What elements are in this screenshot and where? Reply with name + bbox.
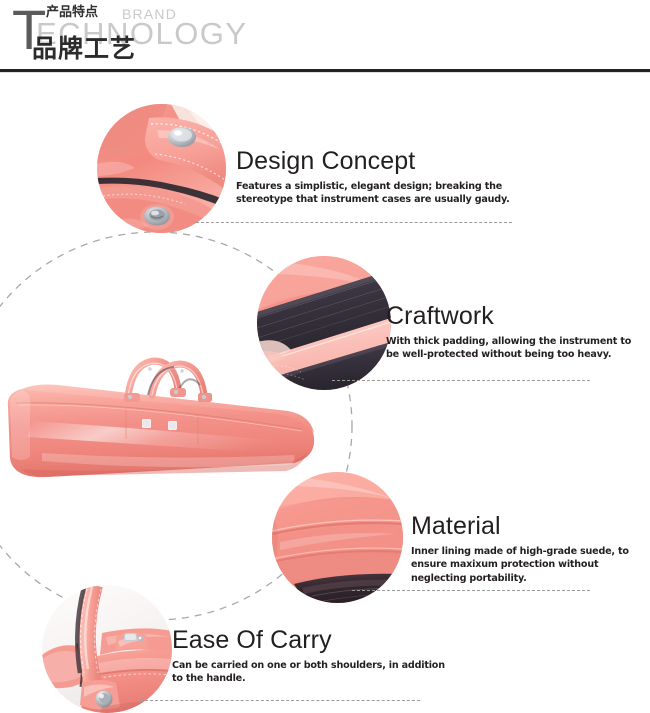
feature-block-craftwork: Craftwork With thick padding, allowing t… xyxy=(386,301,646,362)
photo-design-concept xyxy=(97,104,226,233)
header-chinese-subtitle-top: 产品特点 xyxy=(46,6,98,20)
feature-separator-ease-of-carry xyxy=(140,700,420,701)
header-chinese-title: 品牌工艺 xyxy=(32,36,136,62)
feature-block-ease-of-carry: Ease Of Carry Can be carried on one or b… xyxy=(172,625,452,686)
photo-ease-of-carry xyxy=(42,585,172,713)
feature-block-material: Material Inner lining made of high-grade… xyxy=(411,511,649,585)
photo-craftwork xyxy=(257,256,391,390)
header-brand-label: BRAND xyxy=(122,7,177,22)
feature-body: With thick padding, allowing the instrum… xyxy=(386,335,646,362)
feature-block-design-concept: Design Concept Features a simplistic, el… xyxy=(236,146,526,207)
feature-body: Inner lining made of high-grade suede, t… xyxy=(411,545,649,585)
feature-separator-craftwork xyxy=(332,380,590,381)
feature-title: Material xyxy=(411,511,649,541)
feature-title: Craftwork xyxy=(386,301,646,331)
feature-title: Design Concept xyxy=(236,146,526,176)
page-header: T ECHNOLOGY 产品特点 BRAND 品牌工艺 xyxy=(0,0,650,72)
photo-material xyxy=(272,472,403,603)
feature-title: Ease Of Carry xyxy=(172,625,452,655)
feature-body: Can be carried on one or both shoulders,… xyxy=(172,659,452,686)
feature-separator-design-concept xyxy=(196,222,512,223)
header-divider-soft xyxy=(0,72,650,73)
product-feature-infographic: T ECHNOLOGY 产品特点 BRAND 品牌工艺 xyxy=(0,0,650,713)
feature-body: Features a simplistic, elegant design; b… xyxy=(236,180,526,207)
feature-separator-material xyxy=(352,590,590,591)
